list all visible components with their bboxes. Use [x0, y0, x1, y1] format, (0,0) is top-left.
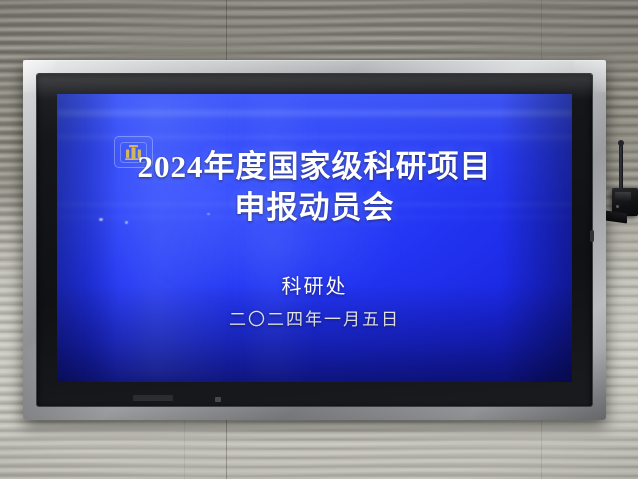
- wall-mounted-display: 2024年度国家级科研项目 申报动员会 科研处 二〇二四年一月五日: [23, 60, 606, 420]
- bezel-indicator-dot: [215, 397, 221, 402]
- receiver-display-panel: [615, 192, 631, 201]
- bezel-side-button: [590, 230, 594, 242]
- receiver-led-icon: [616, 205, 619, 208]
- screen-edge-shade: [57, 94, 572, 382]
- bezel-ir-sensor-slot: [133, 395, 173, 400]
- display-bezel: 2024年度国家级科研项目 申报动员会 科研处 二〇二四年一月五日: [37, 74, 592, 406]
- antenna-tip-icon: [618, 140, 624, 146]
- display-screen: 2024年度国家级科研项目 申报动员会 科研处 二〇二四年一月五日: [57, 94, 572, 382]
- antenna-icon: [619, 143, 623, 191]
- photo-scene: 2024年度国家级科研项目 申报动员会 科研处 二〇二四年一月五日: [0, 0, 638, 479]
